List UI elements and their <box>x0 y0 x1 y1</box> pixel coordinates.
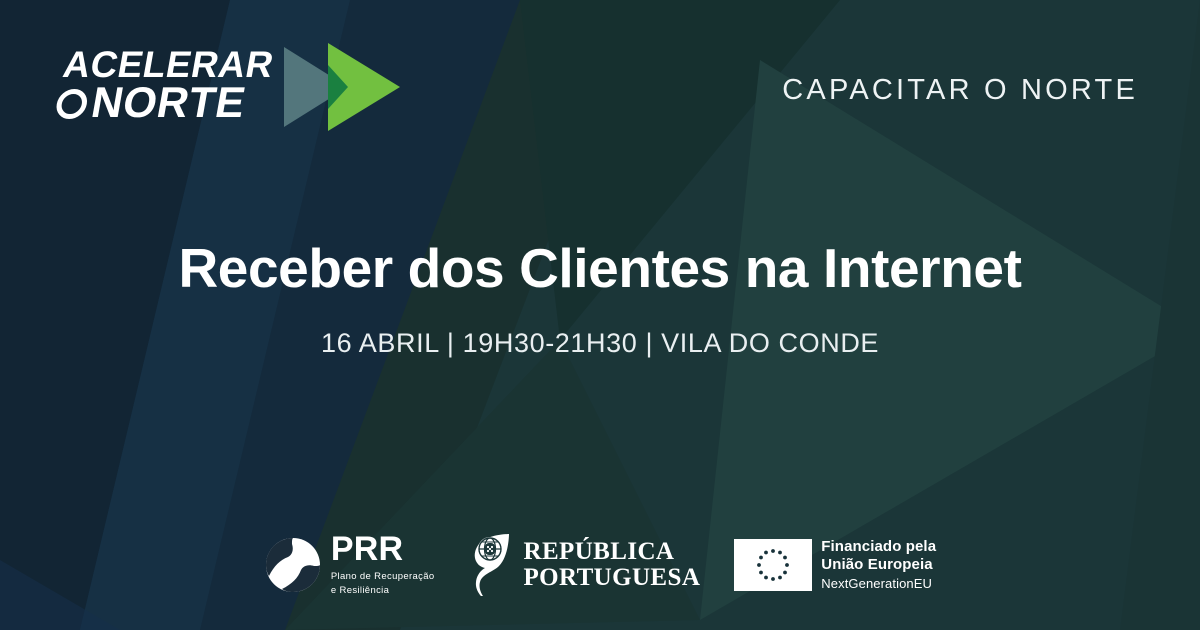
eu-flag-stars-icon <box>734 539 812 591</box>
brand-line-acelerar: ACELERAR <box>61 48 277 82</box>
poster-main-content: Receber dos Clientes na Internet 16 ABRI… <box>0 238 1200 359</box>
event-poster: ACELERAR NORTE CAPACITAR O NORTE Receber… <box>0 0 1200 630</box>
republica-line-1: REPÚBLICA <box>524 539 701 565</box>
brand-norte-label: NORTE <box>88 84 248 124</box>
poster-header: ACELERAR NORTE CAPACITAR O NORTE <box>0 0 1200 170</box>
republica-portuguesa-logo: REPÚBLICA PORTUGUESA <box>469 532 701 598</box>
armillary-sphere-shield-icon <box>469 532 515 598</box>
eu-line-2: União Europeia <box>821 556 936 574</box>
prr-logo: PRR Plano de Recuperação e Resiliência <box>264 532 435 599</box>
republica-line-2: PORTUGUESA <box>524 565 701 591</box>
republica-text-block: REPÚBLICA PORTUGUESA <box>524 539 701 592</box>
double-chevron-arrow-icon <box>276 39 406 135</box>
prr-subtitle: Plano de Recuperação e Resiliência <box>331 570 435 599</box>
page-title: Receber dos Clientes na Internet <box>0 238 1200 300</box>
header-tagline: CAPACITAR O NORTE <box>782 74 1138 107</box>
acelerar-norte-logo: ACELERAR NORTE <box>60 38 406 134</box>
circle-outline-icon <box>54 89 89 119</box>
eu-funding-logo: Financiado pela União Europeia NextGener… <box>734 538 936 592</box>
eu-line-3: NextGenerationEU <box>821 576 936 591</box>
prr-text-block: PRR Plano de Recuperação e Resiliência <box>331 532 435 599</box>
funding-logos: PRR Plano de Recuperação e Resiliência <box>0 532 1200 599</box>
brand-wordmark: ACELERAR NORTE <box>53 48 276 124</box>
eu-line-1: Financiado pela <box>821 538 936 556</box>
prr-name: PRR <box>331 532 435 566</box>
eu-text-block: Financiado pela União Europeia NextGener… <box>821 538 936 592</box>
prr-swirl-circle-icon <box>264 536 322 594</box>
event-details: 16 ABRIL | 19H30-21H30 | VILA DO CONDE <box>0 328 1200 359</box>
brand-line-norte: NORTE <box>53 84 270 124</box>
